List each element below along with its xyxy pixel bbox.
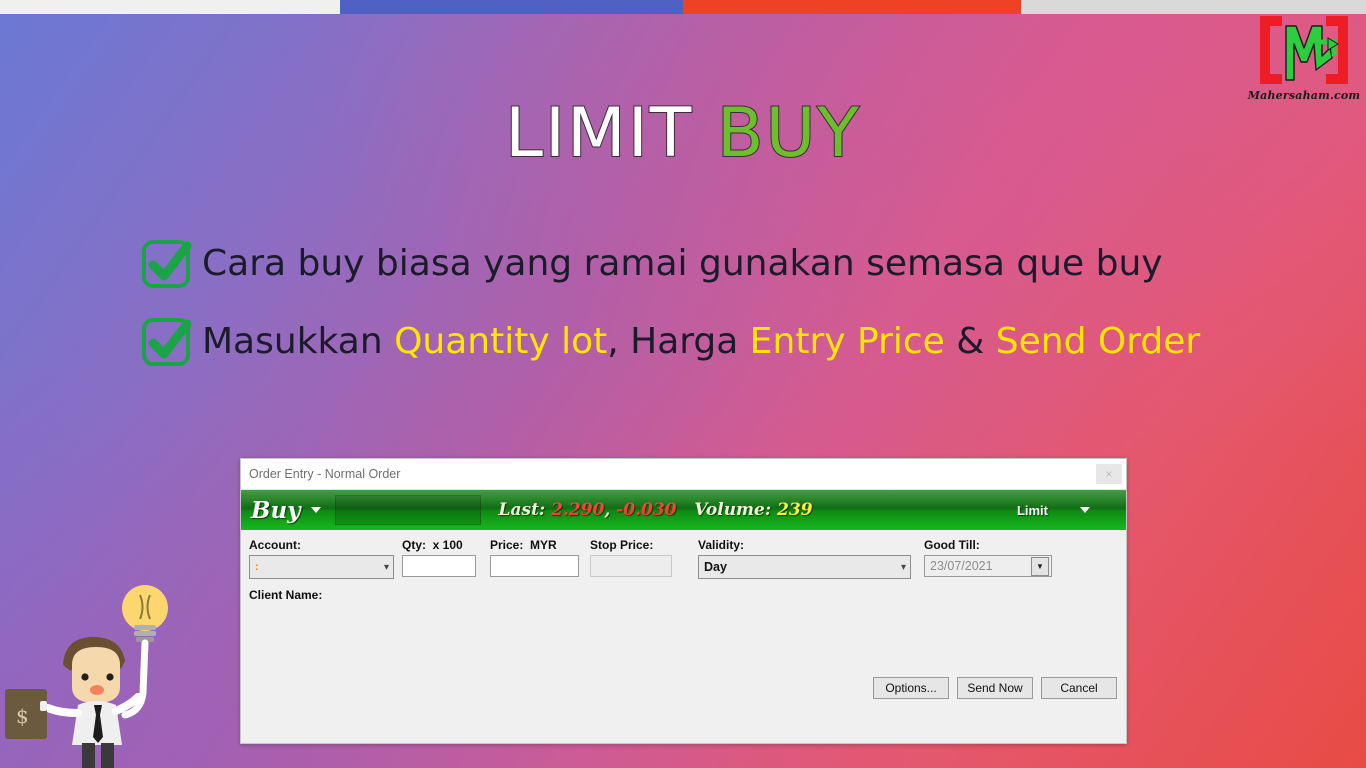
price-label-text: Price: (490, 538, 523, 552)
strip-segment-gray (1021, 0, 1366, 14)
bullet-list: Cara buy biasa yang ramai gunakan semasa… (140, 238, 1320, 394)
chevron-down-icon: ▾ (384, 562, 389, 573)
good-till-field: Good Till: 23/07/2021 ▼ (924, 538, 1058, 577)
cancel-button[interactable]: Cancel (1041, 677, 1117, 699)
send-now-button[interactable]: Send Now (957, 677, 1033, 699)
chevron-down-icon[interactable] (311, 507, 321, 513)
stop-price-field: Stop Price: (590, 538, 690, 577)
qty-label: Qty: x 100 (402, 538, 482, 552)
logo-svg (1258, 14, 1350, 88)
list-item-text: Cara buy biasa yang ramai gunakan semasa… (202, 243, 1163, 284)
order-type-selector[interactable]: Limit (1017, 490, 1048, 530)
account-label: Account: (249, 538, 394, 552)
order-type-label: Limit (1017, 503, 1048, 518)
validity-value: Day (704, 560, 727, 574)
logo-mark-icon (1258, 14, 1350, 88)
last-change: -0.030 (616, 500, 676, 520)
account-value: : (255, 561, 259, 573)
svg-text:$: $ (16, 704, 29, 728)
account-select[interactable]: : ▾ (249, 555, 394, 579)
good-till-label: Good Till: (924, 538, 1058, 552)
qty-input[interactable] (402, 555, 476, 577)
order-side-label: Buy (251, 497, 301, 524)
list-item: Cara buy biasa yang ramai gunakan semasa… (140, 238, 1320, 290)
brand-logo: Mahersaham.com (1248, 14, 1360, 114)
last-separator: , (604, 500, 610, 520)
slide-canvas: Mahersaham.com LIMIT BUY Cara buy biasa … (0, 0, 1366, 768)
symbol-input[interactable] (335, 495, 481, 525)
qty-field: Qty: x 100 (402, 538, 482, 577)
list-item: Masukkan Quantity lot, Harga Entry Price… (140, 316, 1320, 368)
qty-label-text: Qty: (402, 538, 426, 552)
bullet-2-seg-1: Masukkan (202, 321, 394, 362)
volume-label: Volume: (694, 500, 771, 520)
order-type-chevron-down-icon[interactable] (1080, 507, 1090, 513)
good-till-value: 23/07/2021 (930, 559, 993, 573)
dialog-body: Account: : ▾ Qty: x 100 Price: MYR Stop … (241, 530, 1126, 752)
businessman-illustration-icon: $ (0, 573, 190, 768)
options-button[interactable]: Options... (873, 677, 949, 699)
last-price: 2.290 (551, 500, 604, 520)
page-title-limit: LIMIT (505, 94, 693, 173)
checkbox-checked-icon (140, 316, 202, 368)
order-header-bar: Buy Last: 2.290, -0.030 Volume: 239 Limi… (241, 490, 1126, 530)
bullet-1-seg-1: Cara buy biasa yang ramai gunakan semasa… (202, 243, 1163, 284)
bullet-2-seg-4-highlight: Entry Price (750, 321, 945, 362)
account-field: Account: : ▾ (249, 538, 394, 579)
price-currency: MYR (530, 538, 557, 552)
client-name-label: Client Name: (249, 588, 1118, 602)
list-item-text: Masukkan Quantity lot, Harga Entry Price… (202, 321, 1200, 362)
calendar-chevron-down-icon[interactable]: ▼ (1031, 557, 1049, 576)
bullet-2-seg-6-highlight: Send Order (996, 321, 1200, 362)
good-till-datepicker[interactable]: 23/07/2021 ▼ (924, 555, 1052, 577)
stop-price-input[interactable] (590, 555, 672, 577)
validity-label: Validity: (698, 538, 916, 552)
last-label: Last: (499, 500, 546, 520)
page-title-buy: BUY (717, 94, 861, 173)
chevron-down-icon: ▾ (901, 562, 906, 573)
dialog-title-bar: Order Entry - Normal Order × (241, 459, 1126, 490)
price-field: Price: MYR (490, 538, 582, 577)
price-label: Price: MYR (490, 538, 582, 552)
price-input[interactable] (490, 555, 579, 577)
strip-segment-white (0, 0, 340, 14)
validity-select[interactable]: Day ▾ (698, 555, 911, 579)
close-icon[interactable]: × (1096, 464, 1122, 484)
bullet-2-seg-3: , Harga (607, 321, 750, 362)
logo-caption: Mahersaham.com (1248, 89, 1360, 102)
client-name-field: Client Name: (249, 588, 1118, 602)
stop-price-label: Stop Price: (590, 538, 690, 552)
dialog-title: Order Entry - Normal Order (249, 467, 1096, 481)
qty-unit: x 100 (433, 538, 463, 552)
strip-segment-orange (683, 0, 1021, 14)
quote-readout: Last: 2.290, -0.030 Volume: 239 (499, 500, 813, 520)
page-title: LIMIT BUY (0, 100, 1366, 168)
strip-segment-blue (340, 0, 683, 14)
dialog-button-bar: Options... Send Now Cancel (873, 677, 1117, 699)
volume-value: 239 (777, 500, 813, 520)
bullet-2-seg-2-highlight: Quantity lot (394, 321, 607, 362)
validity-field: Validity: Day ▾ (698, 538, 916, 579)
bullet-2-seg-5: & (945, 321, 996, 362)
checkbox-checked-icon (140, 238, 202, 290)
top-color-strip (0, 0, 1366, 14)
order-entry-dialog: Order Entry - Normal Order × Buy Last: 2… (240, 458, 1127, 744)
form-row: Account: : ▾ Qty: x 100 Price: MYR Stop … (249, 538, 1118, 579)
